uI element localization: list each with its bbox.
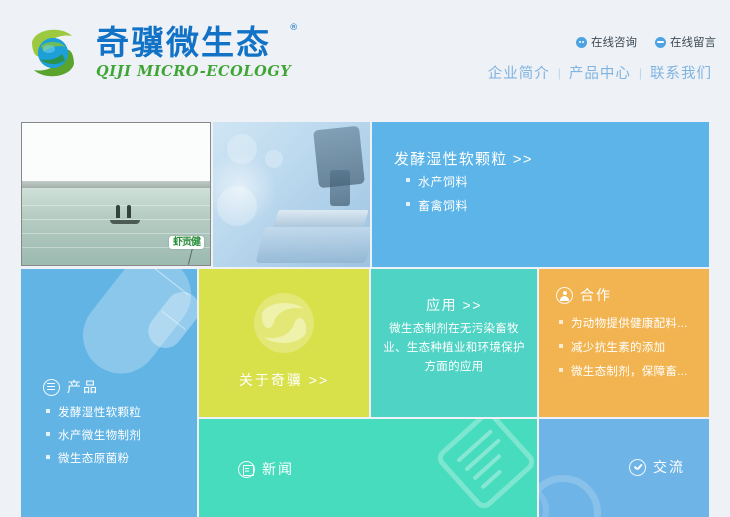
- microscope-base: [256, 227, 370, 263]
- nav-item-contact-us[interactable]: 联系我们: [648, 62, 714, 83]
- online-message-label: 在线留言: [670, 34, 716, 50]
- check-circle-icon: [629, 459, 646, 476]
- logo-text: 奇骥微生态 ® QIJI MICRO-ECOLOGY: [96, 26, 291, 80]
- site-logo[interactable]: 奇骥微生态 ® QIJI MICRO-ECOLOGY: [22, 22, 291, 84]
- application-tile[interactable]: 应用 >> 微生态制剂在无污染畜牧业、生态种植业和环境保护方面的应用: [371, 269, 537, 417]
- cooperation-list: 为动物提供健康配料... 减少抗生素的添加 微生态制剂，保障畜...: [559, 315, 688, 387]
- microscope-stage: [273, 210, 369, 227]
- product-tile-header: 产品: [43, 377, 99, 397]
- about-tile-title: 关于奇骥 >>: [199, 370, 369, 390]
- product-tile[interactable]: 产品 发酵湿性软颗粒 水产微生物制剂 微生态原菌粉: [21, 269, 197, 517]
- photo-watermark: 虾贡健: [169, 236, 204, 249]
- logo-watermark-icon: [252, 291, 316, 355]
- application-tile-body: 微生态制剂在无污染畜牧业、生态种植业和环境保护方面的应用: [383, 320, 525, 377]
- nav-separator: |: [552, 66, 567, 80]
- news-tile-header: 新闻: [238, 459, 294, 479]
- microscope-objective: [330, 170, 350, 206]
- list-item[interactable]: 发酵湿性软颗粒: [46, 404, 141, 420]
- news-tile[interactable]: 新闻: [199, 419, 537, 517]
- aquaculture-pond-photo-tile[interactable]: 虾贡健: [21, 122, 211, 266]
- nav-separator: |: [633, 66, 648, 80]
- communication-tile[interactable]: 交流: [539, 419, 709, 517]
- logo-title-en: QIJI MICRO-ECOLOGY: [96, 63, 291, 80]
- tile-grid: 虾贡健 发酵湿性软颗粒 >> 水产饲料 畜禽饲料 软颗粒®: [0, 122, 730, 517]
- list-item[interactable]: 水产微生物制剂: [46, 427, 141, 443]
- online-message-link[interactable]: 在线留言: [655, 34, 716, 50]
- nav-item-product-center[interactable]: 产品中心: [567, 62, 633, 83]
- photo-person: [127, 205, 131, 218]
- people-icon: [556, 287, 573, 304]
- soft-granule-title: 发酵湿性软颗粒 >>: [394, 148, 533, 169]
- cooperation-tile-title: 合作: [580, 285, 612, 305]
- message-icon: [655, 37, 666, 48]
- news-tile-title: 新闻: [262, 459, 294, 479]
- page-root: 奇骥微生态 ® QIJI MICRO-ECOLOGY 在线咨询 在线留言 企业简…: [0, 0, 730, 517]
- document-graphic: [434, 419, 537, 512]
- photo-boat: [110, 220, 140, 224]
- document-icon: [238, 461, 255, 478]
- online-consult-link[interactable]: 在线咨询: [576, 34, 637, 50]
- cooperation-tile[interactable]: 合作 为动物提供健康配料... 减少抗生素的添加 微生态制剂，保障畜...: [539, 269, 709, 417]
- cooperation-tile-header: 合作: [556, 285, 612, 305]
- about-tile[interactable]: 关于奇骥 >>: [199, 269, 369, 417]
- microscope-bubble: [265, 150, 283, 168]
- list-item[interactable]: 为动物提供健康配料...: [559, 315, 688, 331]
- microscope-bubble: [227, 134, 257, 164]
- communication-tile-title: 交流: [653, 457, 685, 477]
- photo-water: [22, 188, 210, 265]
- list-item[interactable]: 水产饲料: [406, 173, 468, 190]
- chat-bubble-icon: [576, 37, 587, 48]
- online-consult-label: 在线咨询: [591, 34, 637, 50]
- nav-item-company-profile[interactable]: 企业简介: [486, 62, 552, 83]
- list-item[interactable]: 微生态制剂，保障畜...: [559, 363, 688, 379]
- product-list: 发酵湿性软颗粒 水产微生物制剂 微生态原菌粉: [46, 404, 141, 473]
- logo-title-cn: 奇骥微生态 ®: [96, 26, 291, 61]
- header-top-links: 在线咨询 在线留言: [576, 34, 716, 50]
- list-item[interactable]: 减少抗生素的添加: [559, 339, 688, 355]
- logo-registered-mark: ®: [289, 24, 300, 33]
- photo-person: [116, 205, 120, 218]
- product-tile-title: 产品: [67, 377, 99, 397]
- communication-tile-header: 交流: [629, 457, 685, 477]
- microscope-bubble: [217, 186, 257, 226]
- soft-granule-list: 水产饲料 畜禽饲料: [406, 173, 468, 221]
- site-header: 奇骥微生态 ® QIJI MICRO-ECOLOGY 在线咨询 在线留言 企业简…: [0, 0, 730, 122]
- microscope-photo-tile[interactable]: [213, 122, 370, 267]
- list-icon: [43, 379, 60, 396]
- photo-sky: [22, 123, 210, 185]
- list-item[interactable]: 微生态原菌粉: [46, 450, 141, 466]
- logo-leaf-globe-icon: [22, 22, 84, 84]
- main-navigation: 企业简介 | 产品中心 | 联系我们: [486, 62, 714, 83]
- list-item[interactable]: 畜禽饲料: [406, 197, 468, 214]
- application-tile-title: 应用 >>: [371, 295, 537, 315]
- soft-granule-tile[interactable]: 发酵湿性软颗粒 >> 水产饲料 畜禽饲料 软颗粒® 颗颗发酵 粒粒精华 虾贡健 …: [372, 122, 709, 267]
- logo-title-cn-text: 奇骥微生态: [96, 23, 271, 62]
